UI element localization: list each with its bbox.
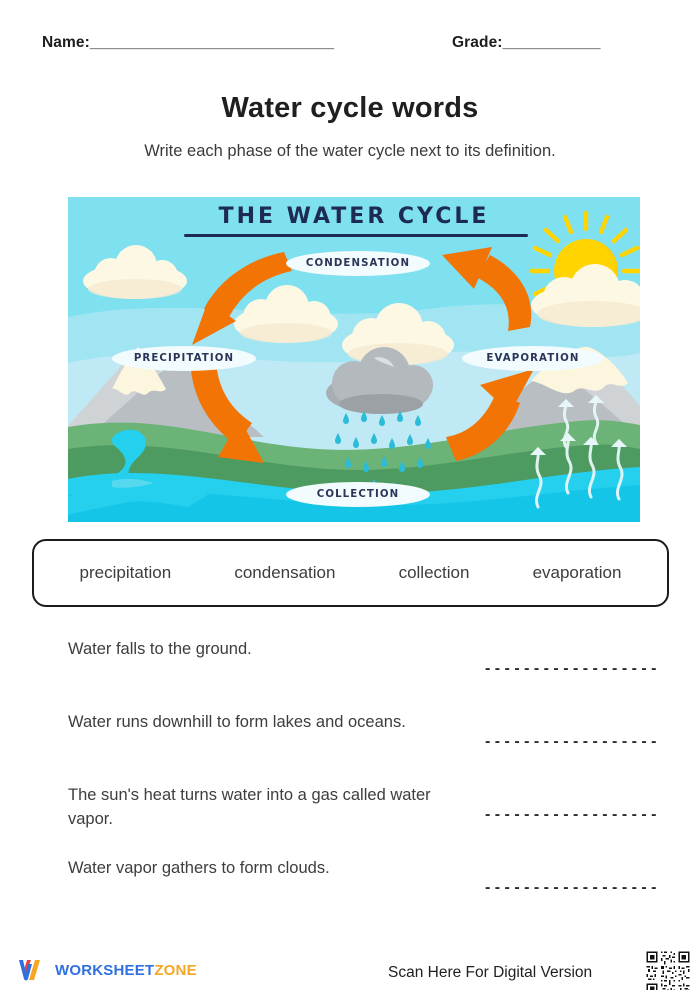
question-row: Water falls to the ground. - - - - - - -… [0, 638, 700, 711]
label-condensation: CONDENSATION [286, 251, 430, 276]
label-precipitation: PRECIPITATION [112, 346, 256, 371]
grade-field-row: Grade:____________ [452, 34, 600, 52]
brand-name-primary: WORKSHEET [55, 962, 154, 979]
grade-blank-line[interactable]: ____________ [503, 34, 600, 51]
grade-label: Grade: [452, 34, 503, 51]
name-label: Name: [42, 34, 90, 51]
answer-blank-3[interactable]: - - - - - - - - - - - - - - - - - - [485, 806, 656, 824]
illustration-heading: THE WATER CYCLE [68, 204, 640, 229]
page-title: Water cycle words [0, 92, 700, 125]
worksheet-zone-w-logo-icon [18, 958, 48, 982]
water-cycle-illustration: THE WATER CYCLE CONDENSATION PRECIPITATI… [68, 197, 640, 522]
answer-blank-4[interactable]: - - - - - - - - - - - - - - - - - - [485, 879, 656, 897]
brand-name-secondary: ZONE [154, 962, 196, 979]
question-row: Water vapor gathers to form clouds. - - … [0, 857, 700, 930]
scan-prompt-text: Scan Here For Digital Version [388, 964, 592, 982]
label-evaporation: EVAPORATION [462, 346, 604, 371]
answer-blank-1[interactable]: - - - - - - - - - - - - - - - - - - [485, 660, 656, 678]
question-text-1: Water falls to the ground. [68, 638, 438, 662]
answer-blank-2[interactable]: - - - - - - - - - - - - - - - - - - [485, 733, 656, 751]
word-bank: precipitation condensation collection ev… [32, 539, 669, 607]
word-bank-item-collection[interactable]: collection [399, 563, 470, 583]
brand-logo[interactable]: WORKSHEETZONE [18, 958, 197, 982]
name-field-row: Name:______________________________ [42, 34, 334, 52]
label-collection: COLLECTION [286, 482, 430, 507]
question-row: The sun's heat turns water into a gas ca… [0, 784, 700, 857]
word-bank-item-condensation[interactable]: condensation [234, 563, 335, 583]
question-text-3: The sun's heat turns water into a gas ca… [68, 784, 438, 832]
question-row: Water runs downhill to form lakes and oc… [0, 711, 700, 784]
student-info-header: Name:______________________________ Grad… [0, 34, 700, 64]
illustration-heading-underline [184, 234, 528, 237]
qr-code-icon[interactable] [645, 950, 691, 990]
brand-logo-text: WORKSHEETZONE [55, 962, 197, 979]
page-footer: WORKSHEETZONE Scan Here For Digital Vers… [0, 950, 700, 990]
question-text-2: Water runs downhill to form lakes and oc… [68, 711, 438, 735]
question-list: Water falls to the ground. - - - - - - -… [0, 638, 700, 930]
word-bank-item-evaporation[interactable]: evaporation [533, 563, 622, 583]
name-blank-line[interactable]: ______________________________ [90, 34, 334, 51]
page-instructions: Write each phase of the water cycle next… [0, 142, 700, 161]
word-bank-item-precipitation[interactable]: precipitation [80, 563, 172, 583]
question-text-4: Water vapor gathers to form clouds. [68, 857, 438, 881]
worksheet-page: Name:______________________________ Grad… [0, 0, 700, 990]
